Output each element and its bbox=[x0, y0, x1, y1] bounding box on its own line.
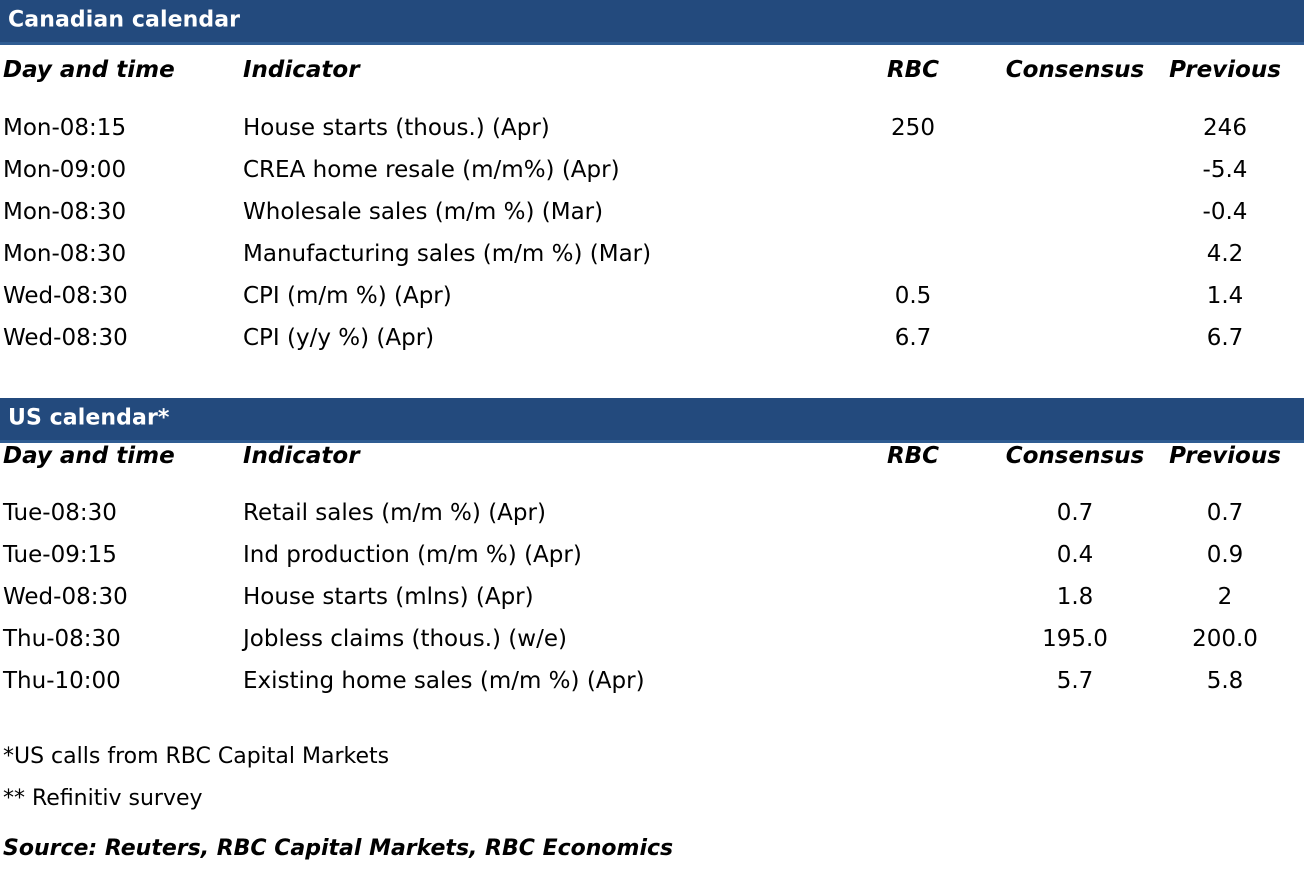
column-header-consensus: Consensus bbox=[1000, 435, 1150, 477]
cell-day-and-time: Mon-08:30 bbox=[3, 191, 238, 233]
table-row: Wed-08:30 CPI (m/m %) (Apr) 0.5 1.4 bbox=[0, 275, 1304, 317]
cell-previous: -5.4 bbox=[1160, 149, 1290, 191]
cell-indicator: Manufacturing sales (m/m %) (Mar) bbox=[243, 233, 858, 275]
cell-consensus: 1.8 bbox=[1000, 576, 1150, 618]
footnote-refinitiv-survey: ** Refinitiv survey bbox=[3, 784, 203, 814]
cell-indicator: House starts (mlns) (Apr) bbox=[243, 576, 858, 618]
cell-indicator: Ind production (m/m %) (Apr) bbox=[243, 534, 858, 576]
cell-indicator: CPI (m/m %) (Apr) bbox=[243, 275, 858, 317]
cell-day-and-time: Wed-08:30 bbox=[3, 275, 238, 317]
cell-previous: 5.8 bbox=[1160, 660, 1290, 702]
column-header-day-and-time: Day and time bbox=[3, 435, 238, 477]
table-row: Mon-08:15 House starts (thous.) (Apr) 25… bbox=[0, 107, 1304, 149]
cell-previous: 6.7 bbox=[1160, 317, 1290, 359]
cell-day-and-time: Thu-08:30 bbox=[3, 618, 238, 660]
column-header-previous: Previous bbox=[1160, 49, 1290, 91]
cell-rbc: 6.7 bbox=[858, 317, 968, 359]
table-row: Tue-08:30 Retail sales (m/m %) (Apr) 0.7… bbox=[0, 492, 1304, 534]
canadian-column-header-row: Day and time Indicator RBC Consensus Pre… bbox=[0, 49, 1304, 91]
table-row: Wed-08:30 House starts (mlns) (Apr) 1.8 … bbox=[0, 576, 1304, 618]
cell-previous: 4.2 bbox=[1160, 233, 1290, 275]
cell-indicator: House starts (thous.) (Apr) bbox=[243, 107, 858, 149]
cell-day-and-time: Tue-08:30 bbox=[3, 492, 238, 534]
cell-previous: 0.9 bbox=[1160, 534, 1290, 576]
cell-previous: 0.7 bbox=[1160, 492, 1290, 534]
cell-day-and-time: Mon-08:15 bbox=[3, 107, 238, 149]
column-header-consensus: Consensus bbox=[1000, 49, 1150, 91]
table-row: Mon-09:00 CREA home resale (m/m%) (Apr) … bbox=[0, 149, 1304, 191]
cell-indicator: CPI (y/y %) (Apr) bbox=[243, 317, 858, 359]
canadian-calendar-title: Canadian calendar bbox=[8, 7, 240, 32]
canadian-calendar-title-bar: Canadian calendar bbox=[0, 0, 1304, 45]
calendar-page: Canadian calendar Day and time Indicator… bbox=[0, 0, 1304, 879]
cell-consensus: 5.7 bbox=[1000, 660, 1150, 702]
cell-indicator: Wholesale sales (m/m %) (Mar) bbox=[243, 191, 858, 233]
cell-rbc: 0.5 bbox=[858, 275, 968, 317]
cell-day-and-time: Tue-09:15 bbox=[3, 534, 238, 576]
cell-day-and-time: Mon-08:30 bbox=[3, 233, 238, 275]
column-header-rbc: RBC bbox=[858, 435, 968, 477]
column-header-rbc: RBC bbox=[858, 49, 968, 91]
column-header-indicator: Indicator bbox=[243, 49, 858, 91]
cell-rbc: 250 bbox=[858, 107, 968, 149]
cell-indicator: Jobless claims (thous.) (w/e) bbox=[243, 618, 858, 660]
us-calendar-title: US calendar* bbox=[8, 405, 170, 430]
cell-indicator: Existing home sales (m/m %) (Apr) bbox=[243, 660, 858, 702]
table-row: Mon-08:30 Manufacturing sales (m/m %) (M… bbox=[0, 233, 1304, 275]
cell-day-and-time: Thu-10:00 bbox=[3, 660, 238, 702]
cell-indicator: CREA home resale (m/m%) (Apr) bbox=[243, 149, 858, 191]
cell-previous: 200.0 bbox=[1160, 618, 1290, 660]
cell-previous: 1.4 bbox=[1160, 275, 1290, 317]
cell-consensus: 195.0 bbox=[1000, 618, 1150, 660]
cell-day-and-time: Mon-09:00 bbox=[3, 149, 238, 191]
cell-consensus: 0.7 bbox=[1000, 492, 1150, 534]
table-row: Thu-10:00 Existing home sales (m/m %) (A… bbox=[0, 660, 1304, 702]
column-header-day-and-time: Day and time bbox=[3, 49, 238, 91]
column-header-indicator: Indicator bbox=[243, 435, 858, 477]
cell-previous: 2 bbox=[1160, 576, 1290, 618]
cell-day-and-time: Wed-08:30 bbox=[3, 317, 238, 359]
cell-day-and-time: Wed-08:30 bbox=[3, 576, 238, 618]
cell-previous: -0.4 bbox=[1160, 191, 1290, 233]
footnote-source: Source: Reuters, RBC Capital Markets, RB… bbox=[3, 834, 673, 864]
table-row: Mon-08:30 Wholesale sales (m/m %) (Mar) … bbox=[0, 191, 1304, 233]
footnote-us-calls: *US calls from RBC Capital Markets bbox=[3, 742, 389, 772]
cell-indicator: Retail sales (m/m %) (Apr) bbox=[243, 492, 858, 534]
table-row: Tue-09:15 Ind production (m/m %) (Apr) 0… bbox=[0, 534, 1304, 576]
cell-consensus: 0.4 bbox=[1000, 534, 1150, 576]
cell-previous: 246 bbox=[1160, 107, 1290, 149]
table-row: Thu-08:30 Jobless claims (thous.) (w/e) … bbox=[0, 618, 1304, 660]
column-header-previous: Previous bbox=[1160, 435, 1290, 477]
us-column-header-row: Day and time Indicator RBC Consensus Pre… bbox=[0, 435, 1304, 477]
table-row: Wed-08:30 CPI (y/y %) (Apr) 6.7 6.7 bbox=[0, 317, 1304, 359]
